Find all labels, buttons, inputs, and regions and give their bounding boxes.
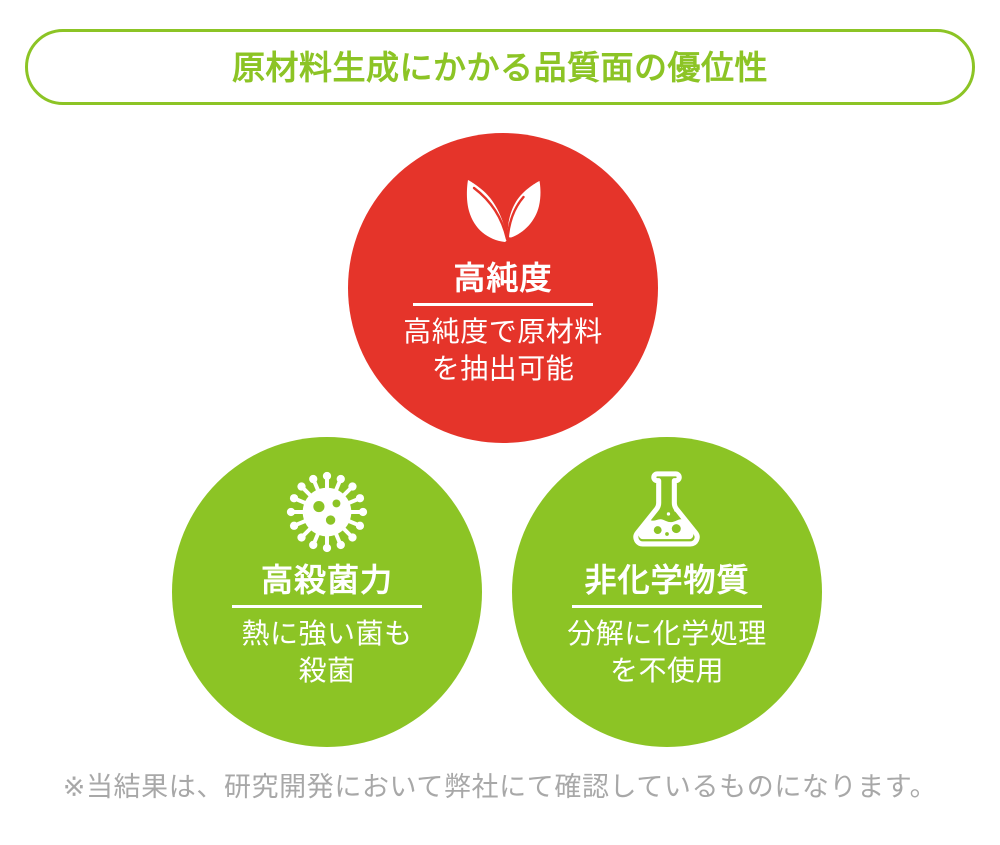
feature-title: 高純度: [453, 261, 552, 296]
feature-circle-high-sterilization: 高殺菌力 熱に強い菌も 殺菌: [172, 437, 482, 747]
footnote-text: ※当結果は、研究開発において弊社にて確認しているものになります。: [0, 770, 1000, 805]
feature-circle-non-chemical: 非化学物質 分解に化学処理 を不使用: [512, 437, 822, 747]
leaf-icon: [455, 165, 551, 255]
feature-description: 分解に化学処理 を不使用: [567, 616, 767, 690]
flask-icon: [619, 467, 715, 557]
title-banner: 原材料生成にかかる品質面の優位性: [25, 29, 975, 105]
feature-divider: [232, 605, 422, 608]
infographic-canvas: 原材料生成にかかる品質面の優位性 高純度 高純度で原材料 を抽出可能: [0, 0, 1000, 845]
feature-divider: [572, 605, 762, 608]
feature-description: 熱に強い菌も 殺菌: [241, 616, 412, 690]
feature-description: 高純度で原材料 を抽出可能: [403, 314, 603, 388]
feature-divider: [413, 303, 593, 306]
feature-circle-high-purity: 高純度 高純度で原材料 を抽出可能: [348, 133, 658, 443]
feature-title: 高殺菌力: [261, 563, 393, 598]
feature-title: 非化学物質: [584, 563, 749, 598]
germ-icon: [279, 467, 375, 557]
page-title: 原材料生成にかかる品質面の優位性: [232, 51, 768, 84]
